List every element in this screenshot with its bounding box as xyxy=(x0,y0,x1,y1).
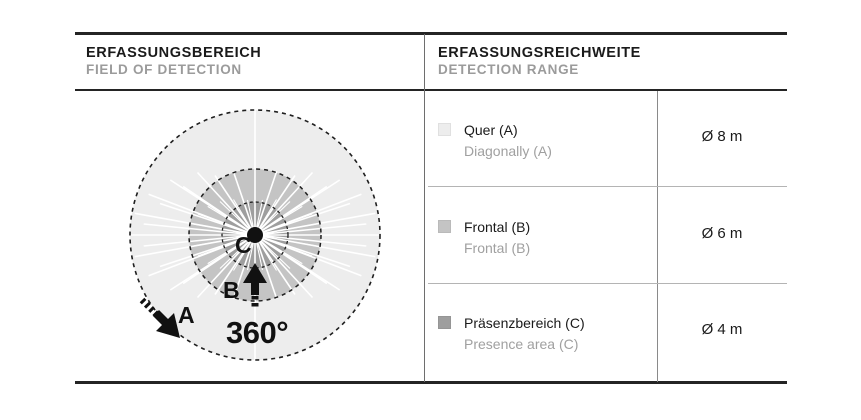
range-value-a: Ø 8 m xyxy=(657,128,787,145)
frame-bottom-rule xyxy=(75,381,787,384)
detection-range-header: ERFASSUNGSREICHWEITE DETECTION RANGE xyxy=(438,44,641,79)
diagram-label-a: A xyxy=(178,302,195,328)
frame-top-rule xyxy=(75,32,787,35)
legend-swatch-a xyxy=(438,123,451,136)
legend-label-de: Quer (A) xyxy=(464,122,518,138)
legend-labels: Präsenzbereich (C) Presence area (C) xyxy=(464,313,585,356)
row-separator-2 xyxy=(428,283,787,284)
field-of-detection-header: ERFASSUNGSBEREICH FIELD OF DETECTION xyxy=(86,44,261,79)
detection-field-diagram: C B A 360° xyxy=(110,95,400,380)
header-title-de: ERFASSUNGSREICHWEITE xyxy=(438,44,641,62)
legend-label-en: Presence area (C) xyxy=(464,336,578,352)
legend-label-de: Präsenzbereich (C) xyxy=(464,315,585,331)
legend-label-de: Frontal (B) xyxy=(464,219,530,235)
detection-spec-sheet: ERFASSUNGSBEREICH FIELD OF DETECTION ERF… xyxy=(0,0,861,420)
legend-labels: Frontal (B) Frontal (B) xyxy=(464,217,530,260)
diagram-angle-label: 360° xyxy=(226,315,288,350)
header-title-de: ERFASSUNGSBEREICH xyxy=(86,44,261,62)
column-divider xyxy=(424,34,425,382)
legend-label-en: Diagonally (A) xyxy=(464,143,552,159)
header-title-en: DETECTION RANGE xyxy=(438,62,641,79)
legend-label-en: Frontal (B) xyxy=(464,240,530,256)
legend-swatch-b xyxy=(438,220,451,233)
legend-swatch-c xyxy=(438,316,451,329)
row-separator-1 xyxy=(428,186,787,187)
range-value-b: Ø 6 m xyxy=(657,225,787,242)
legend-row: Frontal (B) Frontal (B) xyxy=(438,217,648,260)
header-bottom-rule xyxy=(75,89,787,91)
header-title-en: FIELD OF DETECTION xyxy=(86,62,261,79)
diagram-label-b: B xyxy=(223,277,240,303)
diagram-label-c: C xyxy=(235,232,252,258)
legend-row: Präsenzbereich (C) Presence area (C) xyxy=(438,313,648,356)
legend-row: Quer (A) Diagonally (A) xyxy=(438,120,648,163)
range-value-c: Ø 4 m xyxy=(657,321,787,338)
legend-labels: Quer (A) Diagonally (A) xyxy=(464,120,552,163)
